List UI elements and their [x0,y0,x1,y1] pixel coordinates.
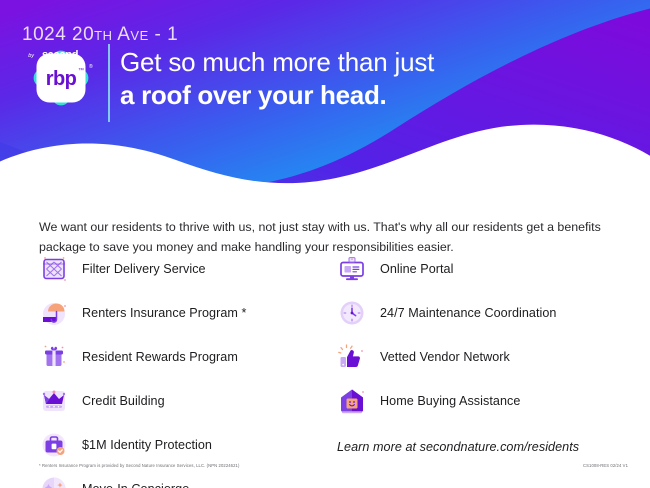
benefit-label: 24/7 Maintenance Coordination [380,306,556,320]
svg-text:®: ® [89,63,93,70]
benefit-item-maintenance-coordination: 24/7 Maintenance Coordination [337,296,637,330]
clock-icon [337,298,367,328]
benefit-label: Vetted Vendor Network [380,350,510,364]
learn-more-text: Learn more at secondnature.com/residents [337,440,650,454]
monitor-icon [337,254,367,284]
benefit-label: Move-In Concierge [82,482,189,488]
credit-crown-icon [39,386,69,416]
benefit-label: $1M Identity Protection [82,438,212,452]
rbp-logo: rbp ™ by second nature ® [22,47,100,110]
benefit-label: Home Buying Assistance [380,394,520,408]
svg-text:rbp: rbp [46,68,77,90]
benefits-column-left: Filter Delivery Service Renters Insuranc… [39,252,339,488]
house-key-icon [337,386,367,416]
benefit-label: Online Portal [380,262,453,276]
hero-banner: 1024 20th Ave - 1 rbp ™ by second [0,0,650,205]
concierge-wifi-icon [39,474,69,488]
air-filter-icon [39,254,69,284]
benefit-item-identity-protection: $1M Identity Protection [39,428,339,462]
thumbs-up-icon [337,342,367,372]
benefit-item-move-in-concierge: Move-In Concierge [39,472,339,488]
briefcase-shield-icon [39,430,69,460]
footer-doc-code: CS1008-RES 02/24 V1 [583,463,628,468]
benefit-item-online-portal: Online Portal [337,252,637,286]
headline-line-1: Get so much more than just [120,47,560,78]
property-address: 1024 20th Ave - 1 [22,24,178,46]
umbrella-icon [39,298,69,328]
benefit-label: Renters Insurance Program * [82,306,246,320]
benefit-item-resident-rewards-program: Resident Rewards Program [39,340,339,374]
svg-text:by: by [28,53,35,59]
benefit-item-renters-insurance-program: Renters Insurance Program * [39,296,339,330]
gift-icon [39,342,69,372]
benefit-label: Filter Delivery Service [82,262,206,276]
headline-line-2: a roof over your head. [120,80,560,111]
benefit-item-filter-delivery-service: Filter Delivery Service [39,252,339,286]
rbp-benefits-flyer: 1024 20th Ave - 1 rbp ™ by second [0,0,650,488]
benefit-item-credit-building: Credit Building [39,384,339,418]
footer-disclaimer: * Renters Insurance Program is provided … [39,463,239,468]
hero-headline: Get so much more than just a roof over y… [120,47,560,111]
benefits-column-right: Online Portal 24/7 Maintenance [337,252,637,428]
benefit-item-vetted-vendor-network: Vetted Vendor Network [337,340,637,374]
svg-text:nature: nature [44,59,76,71]
benefit-label: Credit Building [82,394,165,408]
benefit-label: Resident Rewards Program [82,350,238,364]
benefit-item-home-buying-assistance: Home Buying Assistance [337,384,637,418]
logo-headline-divider [108,44,110,122]
